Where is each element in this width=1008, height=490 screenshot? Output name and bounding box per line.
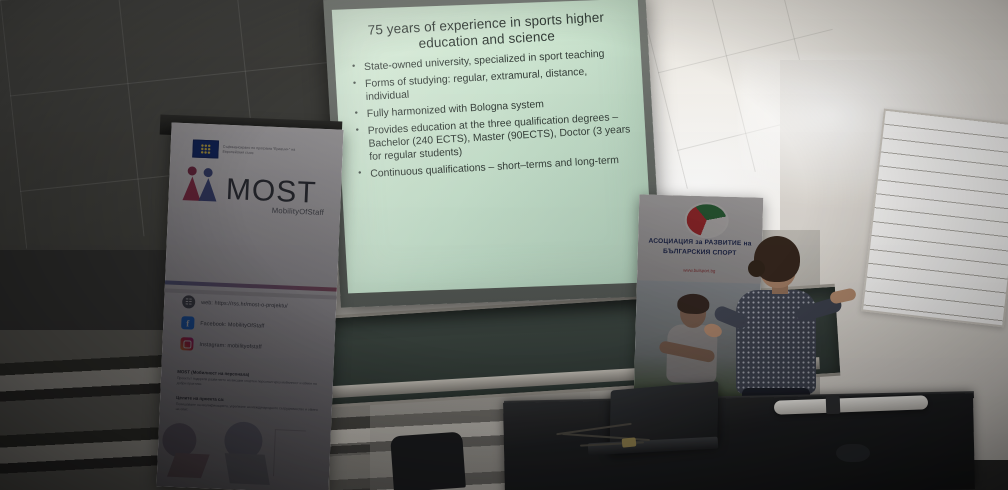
slide-bullet-list: State-owned university, specialized in s…: [347, 46, 635, 182]
contact-web-label: web: https://rss.hr/most-o-projektu/: [201, 299, 288, 309]
decor-quad: [225, 453, 270, 485]
contact-row-instagram: Instagram: mobilityofstaff: [180, 337, 320, 356]
usb-dongle: [622, 437, 637, 447]
projection-screen: 75 years of experience in sports higher …: [332, 0, 654, 293]
chair: [390, 432, 466, 490]
contact-facebook-label: Facebook: MobilityOfStaff: [200, 320, 264, 329]
projection-screen-frame: 75 years of experience in sports higher …: [323, 0, 663, 308]
presentation-photo: 75 years of experience in sports higher …: [0, 0, 1008, 490]
presenter-right-hand: [829, 287, 857, 304]
mouse: [836, 444, 870, 462]
most-figure-right-body: [198, 178, 217, 202]
most-logo: MOST: [182, 166, 341, 207]
banner-decorative-shapes: [156, 418, 331, 490]
facebook-icon: f: [181, 316, 195, 330]
contact-instagram-label: Instagram: mobilityofstaff: [199, 341, 262, 350]
presenter-hair-bun: [748, 260, 765, 277]
most-people-icon: [182, 166, 223, 202]
eu-flag-icon: [192, 139, 219, 158]
decor-quad: [167, 453, 210, 478]
most-figure-right-head: [203, 168, 212, 177]
contact-row-facebook: f Facebook: MobilityOfStaff: [181, 316, 321, 335]
cable: [562, 433, 650, 441]
most-wordmark: MOST: [225, 176, 317, 205]
louver-slats: [863, 111, 1008, 326]
decor-lines: [273, 429, 306, 477]
banner-most-project: Съфинансирано по програма "Еразъм+" на Е…: [156, 123, 343, 490]
globe-icon: ☷: [182, 295, 196, 309]
louvered-wall-panel: [861, 109, 1008, 328]
eu-cofunding-text: Съфинансирано по програма "Еразъм+" на Е…: [222, 145, 296, 158]
banner-contacts: ☷ web: https://rss.hr/most-o-projektu/ f…: [180, 295, 323, 364]
instagram-icon: [180, 337, 194, 351]
banner-body-text: MOST (Мобилност на персонала) Проектът п…: [175, 369, 323, 427]
most-figure-left-head: [188, 166, 197, 175]
slide-content: 75 years of experience in sports higher …: [332, 0, 654, 293]
rolled-poster-cap: [826, 396, 841, 414]
desk-cables: [556, 424, 676, 450]
eu-cofunding-row: Съфинансирано по програма "Еразъм+" на Е…: [192, 139, 343, 163]
